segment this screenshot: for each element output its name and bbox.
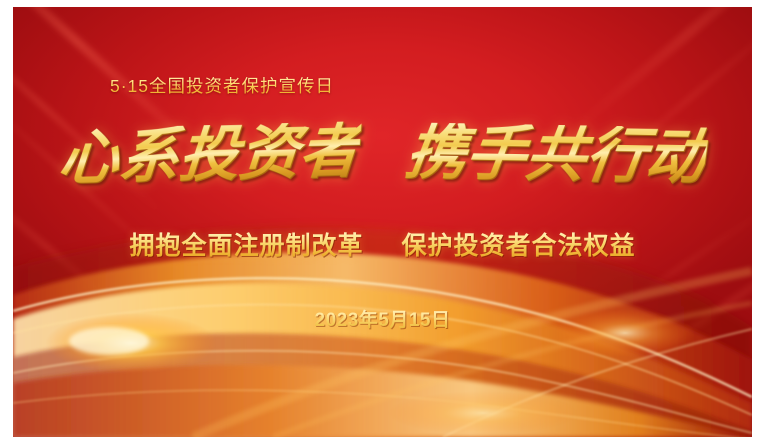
- poster-canvas: 5·15全国投资者保护宣传日 心系投资者 携手共行动 拥抱全面注册制改革 保护投…: [13, 7, 752, 437]
- campaign-eyebrow-text: 5·15全国投资者保护宣传日: [110, 73, 334, 98]
- event-date: 2023年5月15日: [13, 305, 752, 332]
- headline-char: 心系投资者: [56, 121, 361, 189]
- poster-root: 5·15全国投资者保护宣传日 心系投资者 携手共行动 拥抱全面注册制改革 保护投…: [0, 0, 769, 437]
- subtitle-left: 拥抱全面注册制改革: [130, 232, 364, 260]
- subtitle-right: 保护投资者合法权益: [401, 232, 635, 260]
- page-title: 心系投资者 携手共行动: [13, 125, 752, 185]
- page-subtitle: 拥抱全面注册制改革 保护投资者合法权益: [13, 226, 752, 262]
- headline-char: 携手共行动: [402, 122, 710, 187]
- poster-content: 5·15全国投资者保护宣传日 心系投资者 携手共行动 拥抱全面注册制改革 保护投…: [13, 7, 752, 437]
